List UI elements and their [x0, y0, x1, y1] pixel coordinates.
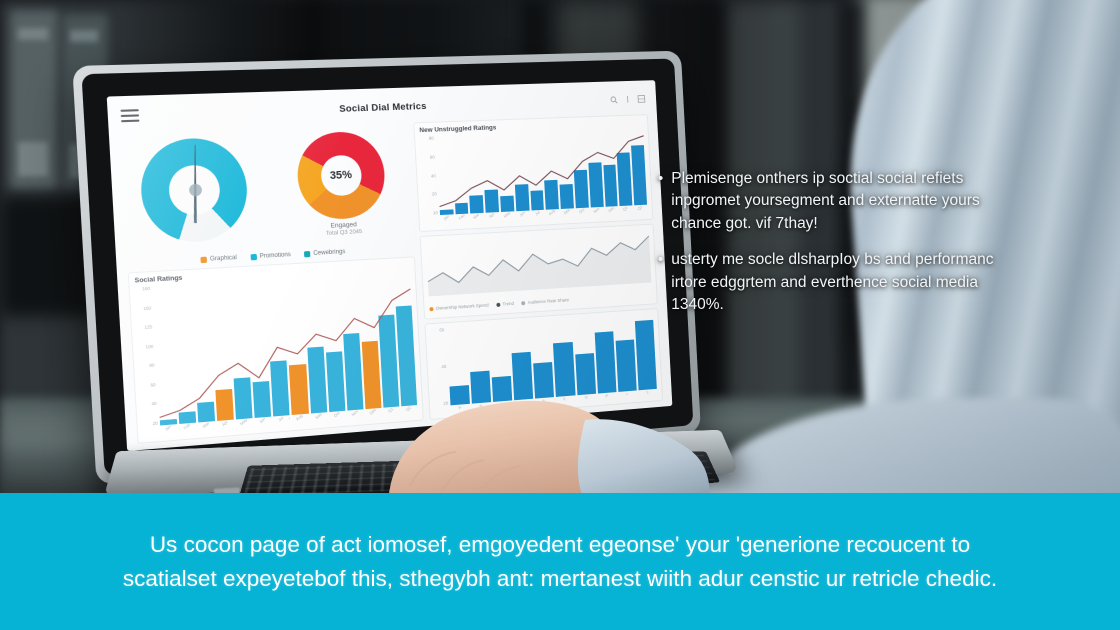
- legend-dot-icon: [496, 302, 500, 306]
- engagement-growth-card: New Unstruggled Ratings 8060402010 JanFe…: [413, 114, 653, 232]
- search-icon[interactable]: [610, 96, 618, 104]
- donut-hole: 35%: [320, 154, 363, 196]
- bullet-item: • Plemisenge onthers ip soctial social r…: [658, 168, 994, 235]
- legend-label: Promotions: [260, 252, 292, 260]
- mini-legend-item[interactable]: Ownership Network Spend: [429, 303, 489, 312]
- line-series: [152, 271, 417, 426]
- y-tick-label: 40: [422, 173, 436, 179]
- donut-ring: 35%: [295, 130, 387, 220]
- binder-label-2: [70, 30, 98, 42]
- legend-label: Graphical: [210, 255, 237, 263]
- bullet-item: • usterty me socle dlsharpIoy bs and per…: [658, 249, 994, 316]
- legend-label: Cewebrings: [313, 249, 345, 257]
- dashboard-header-icons: [610, 95, 645, 104]
- bullet-marker-icon: •: [658, 168, 663, 235]
- mini-legend-label: Trend: [502, 301, 514, 307]
- legend-dot-icon: [521, 301, 525, 305]
- caption-text: Us cocon page of act iomosef, emgoyedent…: [120, 528, 1000, 596]
- plot-area: JanFebMarAprMayJunJulAugSepOctNovDecQ1Q2: [435, 128, 647, 223]
- donut-value: 35%: [329, 168, 352, 181]
- gauge-chart: [139, 137, 250, 245]
- y-tick-label: 80: [420, 136, 434, 141]
- y-tick-label: 60: [141, 382, 156, 388]
- y-tick-label: 125: [137, 324, 152, 330]
- y-tick-label: 60: [421, 154, 435, 160]
- social-ratings-chart: 16015012510080604020 JanFebMarAprMayJunJ…: [135, 271, 417, 436]
- grid-icon[interactable]: [638, 95, 646, 103]
- bullet-text: Plemisenge onthers ip soctial social ref…: [671, 168, 994, 235]
- kpi-row: 35% Engaged Total Q3 2045: [120, 123, 414, 254]
- mini-legend-item[interactable]: Trend: [496, 301, 514, 307]
- trend-area-card: Ownership Network Spend Trend: [419, 224, 657, 320]
- bullet-list: • Plemisenge onthers ip soctial social r…: [658, 168, 994, 331]
- binder-label-3: [18, 142, 48, 176]
- caption-banner: Us cocon page of act iomosef, emgoyedent…: [0, 493, 1120, 630]
- hamburger-menu-icon[interactable]: [120, 109, 139, 122]
- y-tick-label: 60: [430, 327, 444, 333]
- line-series: [435, 128, 647, 215]
- legend-item[interactable]: Promotions: [250, 252, 291, 260]
- mini-legend-label: Ownership Network Spend: [436, 303, 489, 311]
- dashboard-left-column: 35% Engaged Total Q3 2045: [120, 123, 424, 444]
- mini-legend-item[interactable]: Audience Rate Share: [521, 297, 569, 305]
- y-tick-label: 20: [423, 192, 437, 198]
- donut-chart: 35% Engaged Total Q3 2045: [286, 130, 397, 239]
- legend-dot-icon: [250, 254, 257, 260]
- y-tick-label: 20: [143, 420, 158, 426]
- y-tick-label: 80: [139, 363, 154, 369]
- screenshot-stage: Social Dial Metrics: [0, 0, 1120, 630]
- bullet-marker-icon: •: [658, 249, 663, 316]
- y-tick-label: 10: [424, 210, 438, 216]
- y-tick-label: 40: [142, 401, 157, 407]
- legend-dot-icon: [200, 257, 207, 264]
- engagement-growth-chart: 8060402010 JanFebMarAprMayJunJulAugSepOc…: [420, 128, 648, 224]
- legend-item[interactable]: Graphical: [200, 255, 237, 263]
- typing-hands: [380, 368, 710, 513]
- y-tick-label: 160: [135, 286, 150, 292]
- line-series: [426, 229, 652, 297]
- mini-legend-label: Audience Rate Share: [528, 297, 569, 305]
- legend-item[interactable]: Cewebrings: [304, 249, 346, 257]
- bullet-text: usterty me socle dlsharpIoy bs and perfo…: [671, 249, 994, 316]
- legend-dot-icon: [304, 251, 310, 257]
- y-tick-label: 150: [136, 305, 151, 311]
- legend-dot-icon: [429, 307, 433, 311]
- plot-area: JanFebMarAprMayJunJulAugSepOctNovDecQ1Q2: [152, 271, 417, 434]
- y-tick-label: 100: [138, 344, 153, 350]
- divider-icon: [624, 95, 632, 103]
- binder-label-1: [18, 28, 48, 40]
